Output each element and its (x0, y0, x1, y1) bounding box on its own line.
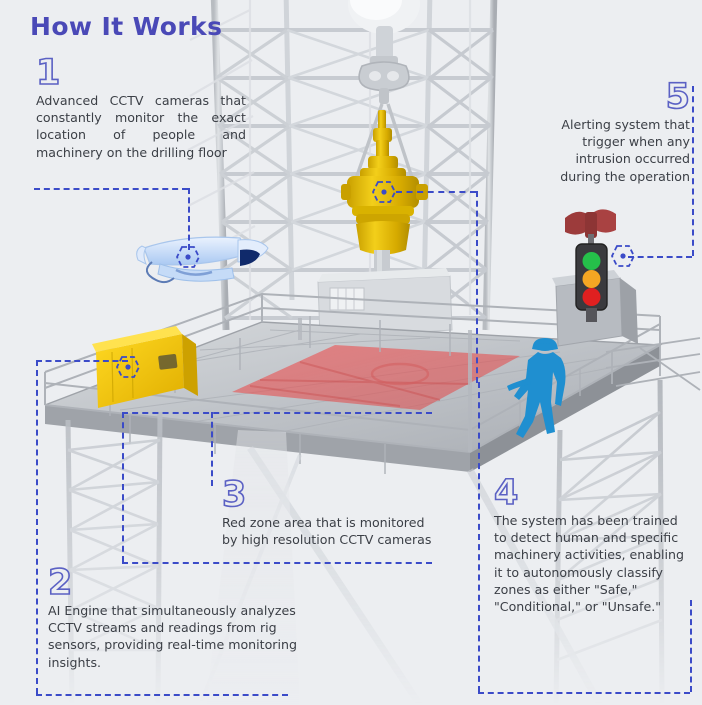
traffic-light-green (583, 252, 601, 270)
connector-3-vertical (211, 412, 213, 486)
target-marker-alarm-icon (610, 244, 636, 268)
callout-5-text: Alerting system that trigger when any in… (540, 116, 690, 185)
callout-1-number: 1 (36, 56, 246, 90)
callout-2-number: 2 (48, 566, 304, 600)
connector-3-left-vertical (122, 412, 124, 562)
connector-2-bottom (36, 694, 288, 696)
callout-3: 3 Red zone area that is monitored by hig… (222, 478, 438, 548)
page-title: How It Works (30, 12, 222, 41)
connector-4-right-vertical (690, 600, 692, 692)
connector-5-horizontal (628, 256, 692, 258)
cctv-camera (137, 237, 268, 282)
callout-1: 1 Advanced CCTV cameras that constantly … (36, 56, 246, 161)
callout-3-number: 3 (222, 478, 438, 512)
connector-3-horizontal (122, 412, 432, 414)
alarm-traffic-light (576, 244, 607, 322)
connector-3-bottom (122, 562, 432, 564)
connector-4-vertical (478, 382, 480, 692)
infographic-canvas: How It Works 1 Advanced CCTV cameras tha… (0, 0, 702, 705)
callout-5: 5 Alerting system that trigger when any … (540, 80, 690, 185)
callout-3-text: Red zone area that is monitored by high … (222, 514, 438, 548)
traffic-light-red (583, 288, 601, 306)
callout-2-text: AI Engine that simultaneously analyzes C… (48, 602, 304, 671)
callout-2: 2 AI Engine that simultaneously analyzes… (48, 566, 304, 671)
callout-4: 4 The system has been trained to detect … (494, 476, 686, 615)
connector-top-drive-vertical (476, 191, 478, 383)
callout-5-number: 5 (540, 80, 690, 114)
callout-4-number: 4 (494, 476, 686, 510)
connector-1-vertical (188, 188, 190, 250)
connector-1-horizontal (34, 188, 188, 190)
target-marker-top-drive-icon (371, 180, 397, 204)
connector-top-drive (396, 191, 476, 193)
connector-2-vertical (36, 360, 38, 694)
connector-5-vertical (692, 86, 694, 256)
callout-4-text: The system has been trained to detect hu… (494, 512, 686, 615)
target-marker-ai-engine-icon (115, 355, 141, 379)
connector-4-bottom (478, 692, 690, 694)
alarm-siren-horn (565, 209, 616, 248)
traffic-light-amber (583, 270, 601, 288)
callout-1-text: Advanced CCTV cameras that constantly mo… (36, 92, 246, 161)
target-marker-cctv-icon (175, 245, 201, 269)
